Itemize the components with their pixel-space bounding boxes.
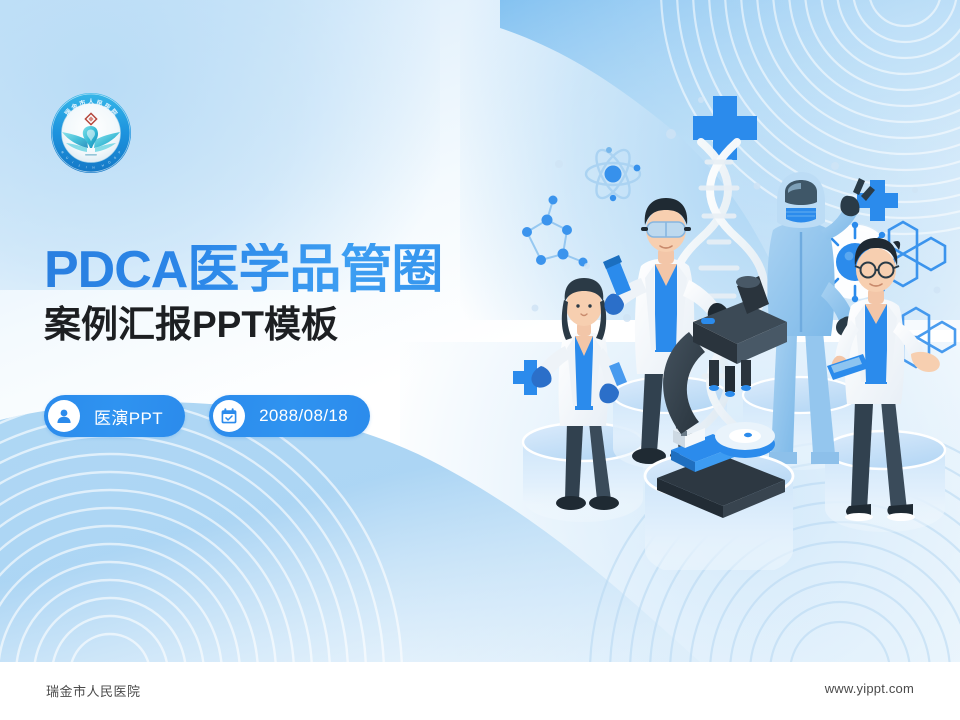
atom-icon [586, 145, 640, 203]
page-subtitle: 案例汇报PPT模板 [44, 305, 564, 346]
medical-research-team-illustration [505, 70, 960, 570]
calendar-icon [213, 400, 245, 432]
footer-hospital-name: 瑞金市人民医院 [46, 681, 141, 700]
slide-canvas: 瑞 金 市 人 民 医 院 R U I J I N H O [0, 0, 960, 662]
user-icon [48, 400, 80, 432]
presentation-slide: 瑞 金 市 人 民 医 院 R U I J I N H O [0, 0, 960, 720]
footer-website-link[interactable]: www.yippt.com [825, 681, 914, 696]
meta-pill-date[interactable]: 2088/08/18 [209, 395, 370, 437]
meta-pill-row: 医演PPT 2088/08/18 [44, 395, 370, 437]
title-block: PDCA医学品管圈 案例汇报PPT模板 [44, 243, 564, 345]
hospital-logo-emblem-icon: 瑞 金 市 人 民 医 院 R U I J I N H O [50, 92, 132, 174]
footer-bar: 瑞金市人民医院 www.yippt.com [0, 662, 960, 720]
hexagon-chain [889, 222, 945, 286]
plus-symbol-medium [857, 180, 898, 221]
meta-pill-author-label: 医演PPT [94, 404, 163, 429]
page-title: PDCA医学品管圈 [44, 243, 564, 298]
svg-text:人: 人 [88, 98, 95, 106]
hospital-logo: 瑞 金 市 人 民 医 院 R U I J I N H O [50, 92, 132, 174]
meta-pill-author[interactable]: 医演PPT [44, 395, 185, 437]
molecule-structure [522, 196, 588, 267]
meta-pill-date-label: 2088/08/18 [259, 406, 348, 426]
svg-text:N: N [92, 165, 95, 169]
test-tube [603, 255, 631, 296]
